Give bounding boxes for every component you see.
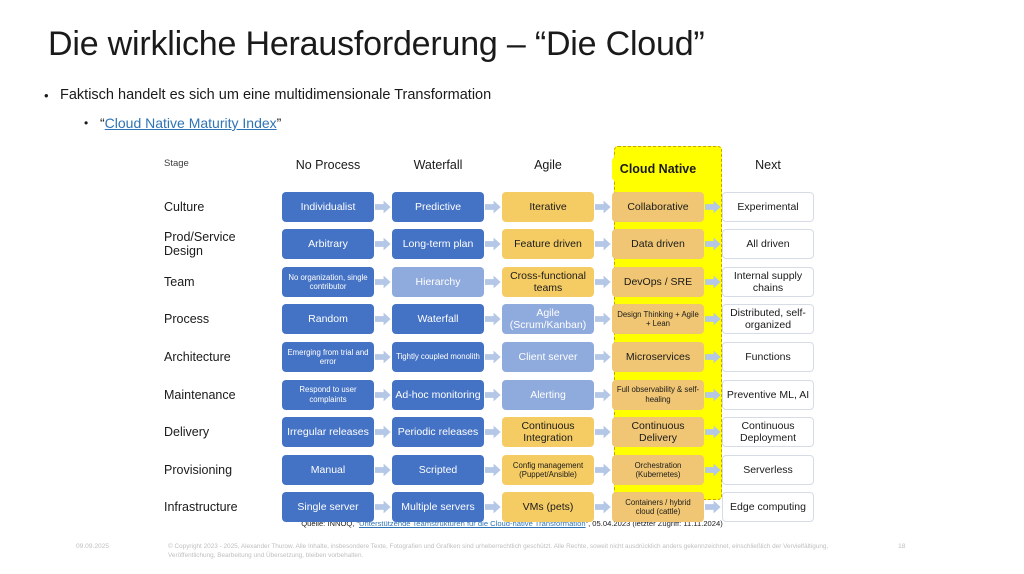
matrix-cell: Collaborative <box>612 192 704 222</box>
matrix-cell-label: Irregular releases <box>285 426 371 438</box>
matrix-cell-label: Ad-hoc monitoring <box>395 389 481 401</box>
arrow-right-icon <box>595 500 611 514</box>
matrix-cell-label: Collaborative <box>615 201 701 213</box>
matrix-cell-label: Serverless <box>726 464 810 476</box>
bullet-level-2: • “Cloud Native Maturity Index” <box>84 114 844 133</box>
matrix-cell: Data driven <box>612 229 704 259</box>
matrix-cell: Functions <box>722 342 814 372</box>
matrix-cell: Tightly coupled monolith <box>392 342 484 372</box>
matrix-cell-label: DevOps / SRE <box>615 276 701 288</box>
matrix-cell: Feature driven <box>502 229 594 259</box>
matrix-cell: Scripted <box>392 455 484 485</box>
matrix-cell: Config management (Puppet/Ansible) <box>502 455 594 485</box>
arrow-right-icon <box>485 312 501 326</box>
matrix-cell-label: Hierarchy <box>395 276 481 288</box>
arrow-right-icon <box>375 425 391 439</box>
matrix-cell-label: Scripted <box>395 464 481 476</box>
arrow-right-icon <box>375 463 391 477</box>
column-header-no-process: No Process <box>282 158 374 180</box>
matrix-cell-label: Orchestration (Kubernetes) <box>615 461 701 479</box>
row-label-maintenance: Maintenance <box>162 388 272 402</box>
matrix-cell: Iterative <box>502 192 594 222</box>
matrix-cell-label: Multiple servers <box>395 501 481 513</box>
matrix-cell: Preventive ML, AI <box>722 380 814 410</box>
matrix-cell: Experimental <box>722 192 814 222</box>
matrix-cell-label: Long-term plan <box>395 238 481 250</box>
bullet-level-1: • Faktisch handelt es sich um eine multi… <box>44 86 844 105</box>
matrix-cell: Single server <box>282 492 374 522</box>
matrix-cell-label: Internal supply chains <box>726 270 810 294</box>
column-header-cloud-native: Cloud Native <box>612 157 704 181</box>
arrow-right-icon <box>485 237 501 251</box>
matrix-cell-label: All driven <box>726 238 810 250</box>
arrow-right-icon <box>705 312 721 326</box>
matrix-cell-label: Single server <box>285 501 371 513</box>
matrix-cell-label: Config management (Puppet/Ansible) <box>505 461 591 479</box>
row-label-team: Team <box>162 275 272 289</box>
matrix-cell: Serverless <box>722 455 814 485</box>
matrix-cell: Continuous Integration <box>502 417 594 447</box>
cloud-native-maturity-index-link[interactable]: Cloud Native Maturity Index <box>105 115 277 131</box>
arrow-right-icon <box>705 500 721 514</box>
footer-date: 09.09.2025 <box>76 543 109 550</box>
matrix-cell-label: Random <box>285 313 371 325</box>
matrix-cell: Client server <box>502 342 594 372</box>
arrow-right-icon <box>705 237 721 251</box>
matrix-cell: Continuous Deployment <box>722 417 814 447</box>
matrix-cell-label: Iterative <box>505 201 591 213</box>
arrow-right-icon <box>485 388 501 402</box>
matrix-cell-label: Tightly coupled monolith <box>395 352 481 361</box>
matrix-cell-label: Cross-functional teams <box>505 270 591 294</box>
arrow-right-icon <box>485 275 501 289</box>
matrix-cell-label: Microservices <box>615 351 701 363</box>
matrix-cell: Full observability & self-healing <box>612 380 704 410</box>
matrix-cell: Distributed, self-organized <box>722 304 814 334</box>
footer-copyright: © Copyright 2023 - 2025, Alexander Thuro… <box>168 542 858 561</box>
matrix-cell: Manual <box>282 455 374 485</box>
matrix-cell: Respond to user complaints <box>282 380 374 410</box>
row-label-process: Process <box>162 312 272 326</box>
matrix-cell: Microservices <box>612 342 704 372</box>
bullet-list: • Faktisch handelt es sich um eine multi… <box>44 86 844 133</box>
bullet-level-1-text: Faktisch handelt es sich um eine multidi… <box>60 86 491 105</box>
arrow-right-icon <box>375 388 391 402</box>
matrix-cell-label: Design Thinking + Agile + Lean <box>615 310 701 328</box>
column-header-waterfall: Waterfall <box>392 158 484 180</box>
matrix-cell-label: Full observability & self-healing <box>615 385 701 403</box>
matrix-cell-label: Manual <box>285 464 371 476</box>
arrow-right-icon <box>705 200 721 214</box>
matrix-cell-label: Experimental <box>726 201 810 213</box>
slide-canvas: Die wirkliche Herausforderung – “Die Clo… <box>0 0 1024 574</box>
matrix-cell-label: Agile (Scrum/Kanban) <box>505 307 591 331</box>
matrix-cell-label: VMs (pets) <box>505 501 591 513</box>
matrix-cell: Periodic releases <box>392 417 484 447</box>
matrix-cell: Waterfall <box>392 304 484 334</box>
row-label-architecture: Architecture <box>162 350 272 364</box>
footer-page-number: 18 <box>898 543 906 550</box>
bullet-marker-icon: • <box>84 114 100 133</box>
arrow-right-icon <box>485 500 501 514</box>
arrow-right-icon <box>375 237 391 251</box>
matrix-cell: Orchestration (Kubernetes) <box>612 455 704 485</box>
matrix-cell-label: Periodic releases <box>395 426 481 438</box>
matrix-cell: Containers / hybrid cloud (cattle) <box>612 492 704 522</box>
matrix-cell-label: Individualist <box>285 201 371 213</box>
column-header-next: Next <box>722 158 814 180</box>
matrix-cell-label: Respond to user complaints <box>285 385 371 403</box>
matrix-cell-label: Emerging from trial and error <box>285 348 371 366</box>
matrix-cell: Random <box>282 304 374 334</box>
arrow-right-icon <box>705 275 721 289</box>
matrix-cell: Ad-hoc monitoring <box>392 380 484 410</box>
matrix-cell-label: Data driven <box>615 238 701 250</box>
matrix-cell: Internal supply chains <box>722 267 814 297</box>
matrix-cell: Design Thinking + Agile + Lean <box>612 304 704 334</box>
close-quote: ” <box>277 115 282 131</box>
matrix-cell: Arbitrary <box>282 229 374 259</box>
matrix-cell: Long-term plan <box>392 229 484 259</box>
matrix-cell-label: Edge computing <box>726 501 810 513</box>
matrix-cell: Continuous Delivery <box>612 417 704 447</box>
arrow-right-icon <box>375 312 391 326</box>
matrix-cell-label: Distributed, self-organized <box>726 307 810 331</box>
matrix-cell: Edge computing <box>722 492 814 522</box>
arrow-right-icon <box>595 200 611 214</box>
stage-column-header: Stage <box>162 158 272 180</box>
row-label-prod-service-design: Prod/Service Design <box>162 230 272 258</box>
matrix-cell: Irregular releases <box>282 417 374 447</box>
matrix-cell-label: Containers / hybrid cloud (cattle) <box>615 498 701 516</box>
row-label-infrastructure: Infrastructure <box>162 500 272 514</box>
matrix-cell-label: Client server <box>505 351 591 363</box>
row-label-culture: Culture <box>162 200 272 214</box>
arrow-right-icon <box>595 312 611 326</box>
row-label-delivery: Delivery <box>162 425 272 439</box>
arrow-right-icon <box>375 275 391 289</box>
matrix-cell-label: Continuous Integration <box>505 420 591 444</box>
arrow-right-icon <box>485 350 501 364</box>
row-label-provisioning: Provisioning <box>162 463 272 477</box>
matrix-cell: Cross-functional teams <box>502 267 594 297</box>
arrow-right-icon <box>595 425 611 439</box>
arrow-right-icon <box>375 350 391 364</box>
matrix-cell-label: Arbitrary <box>285 238 371 250</box>
arrow-right-icon <box>705 463 721 477</box>
arrow-right-icon <box>485 425 501 439</box>
matrix-cell: Alerting <box>502 380 594 410</box>
matrix-cell-label: Alerting <box>505 389 591 401</box>
matrix-cell: Predictive <box>392 192 484 222</box>
arrow-right-icon <box>485 200 501 214</box>
arrow-right-icon <box>485 463 501 477</box>
matrix-cell: DevOps / SRE <box>612 267 704 297</box>
column-header-agile: Agile <box>502 158 594 180</box>
arrow-right-icon <box>595 237 611 251</box>
page-title: Die wirkliche Herausforderung – “Die Clo… <box>48 22 948 66</box>
matrix-cell: Emerging from trial and error <box>282 342 374 372</box>
matrix-cell: Hierarchy <box>392 267 484 297</box>
matrix-grid: StageNo ProcessWaterfallAgileCloud Nativ… <box>162 152 862 524</box>
matrix-cell-label: Continuous Delivery <box>615 420 701 444</box>
matrix-cell: All driven <box>722 229 814 259</box>
matrix-cell: Individualist <box>282 192 374 222</box>
matrix-cell: Multiple servers <box>392 492 484 522</box>
arrow-right-icon <box>595 275 611 289</box>
matrix-cell-label: Waterfall <box>395 313 481 325</box>
matrix-cell: No organization, single contributor <box>282 267 374 297</box>
arrow-right-icon <box>705 350 721 364</box>
matrix-cell-label: Preventive ML, AI <box>726 389 810 401</box>
arrow-right-icon <box>595 463 611 477</box>
matrix-cell: VMs (pets) <box>502 492 594 522</box>
arrow-right-icon <box>705 425 721 439</box>
matrix-cell-label: Functions <box>726 351 810 363</box>
arrow-right-icon <box>595 388 611 402</box>
matrix-cell-label: No organization, single contributor <box>285 273 371 291</box>
matrix-cell-label: Feature driven <box>505 238 591 250</box>
arrow-right-icon <box>375 200 391 214</box>
matrix-cell: Agile (Scrum/Kanban) <box>502 304 594 334</box>
arrow-right-icon <box>595 350 611 364</box>
maturity-matrix: StageNo ProcessWaterfallAgileCloud Nativ… <box>162 152 862 504</box>
arrow-right-icon <box>375 500 391 514</box>
matrix-cell-label: Predictive <box>395 201 481 213</box>
bullet-level-2-text: “Cloud Native Maturity Index” <box>100 114 281 133</box>
arrow-right-icon <box>705 388 721 402</box>
matrix-cell-label: Continuous Deployment <box>726 420 810 444</box>
bullet-marker-icon: • <box>44 86 60 105</box>
